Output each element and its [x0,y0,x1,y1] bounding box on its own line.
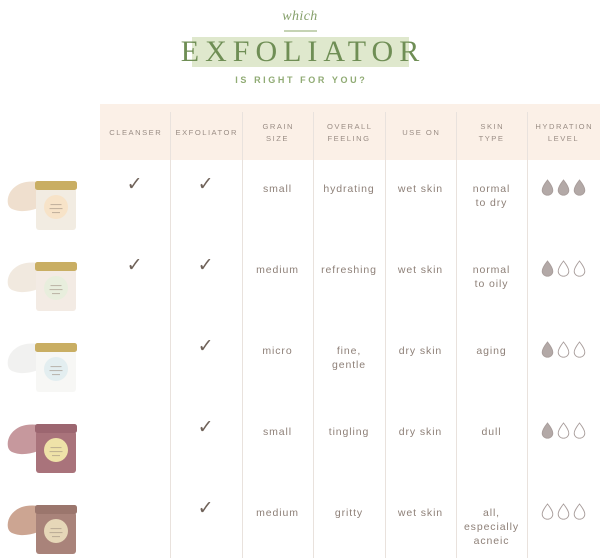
column-header-use_on: USE ON [385,104,456,160]
droplet-icon [557,260,570,281]
exfoliator-check-icon: ✓ [170,322,242,403]
product-image [0,160,100,241]
exfoliator-check-icon: ✓ [170,484,242,558]
droplet-icon [557,503,570,524]
column-header-hydration_level: HYDRATIONLEVEL [527,104,600,160]
product-image-column [0,160,100,558]
droplet-icon [573,503,586,524]
droplet-icon [573,179,586,200]
column-header-label: GRAINSIZE [261,121,294,145]
cell-skin_type: normalto oily [456,241,527,322]
cell-skin_type: all,especiallyacneic [456,484,527,558]
column-header-skin_type: SKINTYPE [456,104,527,160]
column-header-overall_feeling: OVERALLFEELING [313,104,385,160]
product-image [0,241,100,322]
table-row: ✓✓mediumrefreshingwet skinnormalto oily [100,241,600,322]
eyebrow-text: which [0,9,600,25]
hydration-level-droplets [527,484,600,558]
cell-overall_feeling: fine,gentle [313,322,385,403]
cell-grain_size: micro [242,322,313,403]
cleanser-check-icon [100,403,170,484]
table-row: ✓mediumgrittywet skinall,especiallyacnei… [100,484,600,558]
cell-skin_type: normalto dry [456,160,527,241]
product-image [0,484,100,558]
cell-use_on: wet skin [385,484,456,558]
page-header: which EXFOLIATOR IS RIGHT FOR YOU? [0,0,600,100]
cell-overall_feeling: tingling [313,403,385,484]
page-title: EXFOLIATOR [0,35,600,69]
cell-use_on: dry skin [385,322,456,403]
cell-use_on: wet skin [385,241,456,322]
infographic-page: which EXFOLIATOR IS RIGHT FOR YOU? CLEAN… [0,0,600,558]
hydration-level-droplets [527,241,600,322]
droplet-icon [573,260,586,281]
cleanser-check-icon: ✓ [100,241,170,322]
cell-grain_size: small [242,160,313,241]
cell-use_on: wet skin [385,160,456,241]
column-header-label: CLEANSER [108,127,162,139]
droplet-icon [541,341,554,362]
column-header-cleanser: CLEANSER [100,104,170,160]
column-header-label: OVERALLFEELING [325,121,372,145]
droplet-icon [541,422,554,443]
column-header-label: EXFOLIATOR [174,127,238,139]
cell-overall_feeling: refreshing [313,241,385,322]
product-image [0,403,100,484]
hydration-level-droplets [527,322,600,403]
title-group: EXFOLIATOR [0,37,600,67]
column-header-exfoliator: EXFOLIATOR [170,104,242,160]
table-row: ✓smalltinglingdry skindull [100,403,600,484]
cell-skin_type: dull [456,403,527,484]
cell-grain_size: medium [242,484,313,558]
cell-skin_type: aging [456,322,527,403]
cell-grain_size: medium [242,241,313,322]
droplet-icon [541,179,554,200]
droplet-icon [557,341,570,362]
exfoliator-check-icon: ✓ [170,403,242,484]
hydration-level-droplets [527,403,600,484]
droplet-icon [541,260,554,281]
droplet-icon [573,341,586,362]
table-row: ✓microfine,gentledry skinaging [100,322,600,403]
column-header-label: USE ON [401,127,441,139]
table-body: ✓✓smallhydratingwet skinnormalto dry✓✓me… [100,160,600,558]
column-header-label: SKINTYPE [479,121,505,145]
column-header-label: HYDRATIONLEVEL [534,121,593,145]
cell-overall_feeling: gritty [313,484,385,558]
droplet-icon [557,422,570,443]
exfoliator-check-icon: ✓ [170,160,242,241]
cell-overall_feeling: hydrating [313,160,385,241]
droplet-icon [557,179,570,200]
cleanser-check-icon [100,484,170,558]
cell-use_on: dry skin [385,403,456,484]
droplet-icon [541,503,554,524]
eyebrow-divider [284,30,317,32]
product-image [0,322,100,403]
cell-grain_size: small [242,403,313,484]
droplet-icon [573,422,586,443]
page-subtitle: IS RIGHT FOR YOU? [0,75,600,85]
table-row: ✓✓smallhydratingwet skinnormalto dry [100,160,600,241]
column-header-grain_size: GRAINSIZE [242,104,313,160]
comparison-table: CLEANSEREXFOLIATORGRAINSIZEOVERALLFEELIN… [100,104,600,558]
cleanser-check-icon: ✓ [100,160,170,241]
cleanser-check-icon [100,322,170,403]
exfoliator-check-icon: ✓ [170,241,242,322]
hydration-level-droplets [527,160,600,241]
table-header-row: CLEANSEREXFOLIATORGRAINSIZEOVERALLFEELIN… [100,104,600,160]
